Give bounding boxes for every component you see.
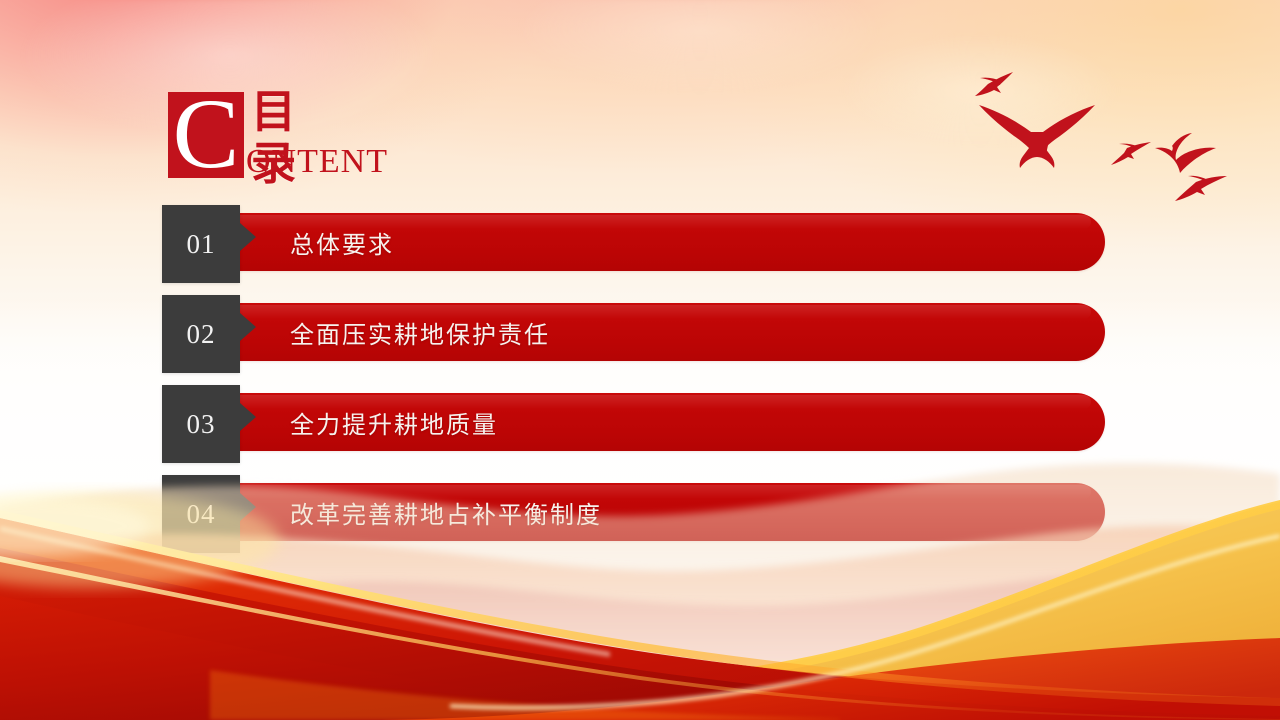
toc-bar[interactable]: 总体要求: [237, 213, 1105, 271]
toc-item-number: 02: [162, 295, 240, 373]
toc-item-01[interactable]: 总体要求 01: [0, 205, 1280, 295]
toc-item-label: 全面压实耕地保护责任: [290, 303, 550, 361]
toc-item-number: 01: [162, 205, 240, 283]
arrow-right-icon: [240, 223, 256, 251]
toc-bar[interactable]: 全面压实耕地保护责任: [237, 303, 1105, 361]
arrow-right-icon: [240, 403, 256, 431]
slide-canvas: C 目录 ONTENT 总体要求 01 全面压实耕地保护责任 02: [0, 0, 1280, 720]
toc-number-block: 01: [162, 205, 240, 283]
arrow-right-icon: [240, 313, 256, 341]
toc-item-label: 总体要求: [290, 213, 394, 271]
toc-item-02[interactable]: 全面压实耕地保护责任 02: [0, 295, 1280, 385]
bottom-decoration: [0, 430, 1280, 720]
toc-number-block: 02: [162, 295, 240, 373]
